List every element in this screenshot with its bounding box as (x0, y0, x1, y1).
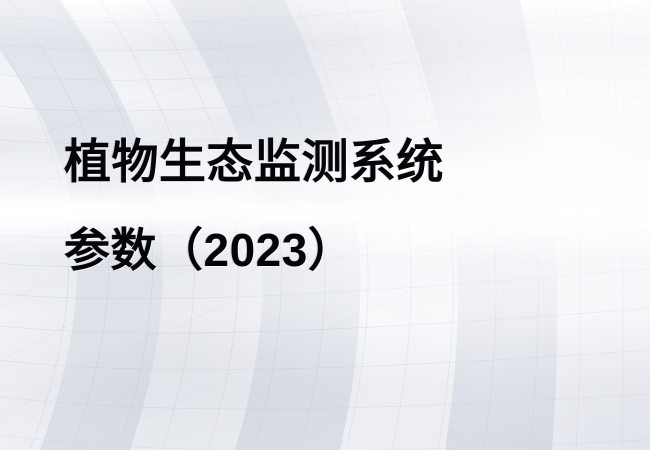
title-slide: 植物生态监测系统 参数（2023） (0, 0, 650, 450)
slide-title-line-2: 参数（2023） (64, 206, 624, 294)
slide-title: 植物生态监测系统 参数（2023） (64, 118, 624, 294)
slide-title-line-1: 植物生态监测系统 (64, 118, 624, 206)
